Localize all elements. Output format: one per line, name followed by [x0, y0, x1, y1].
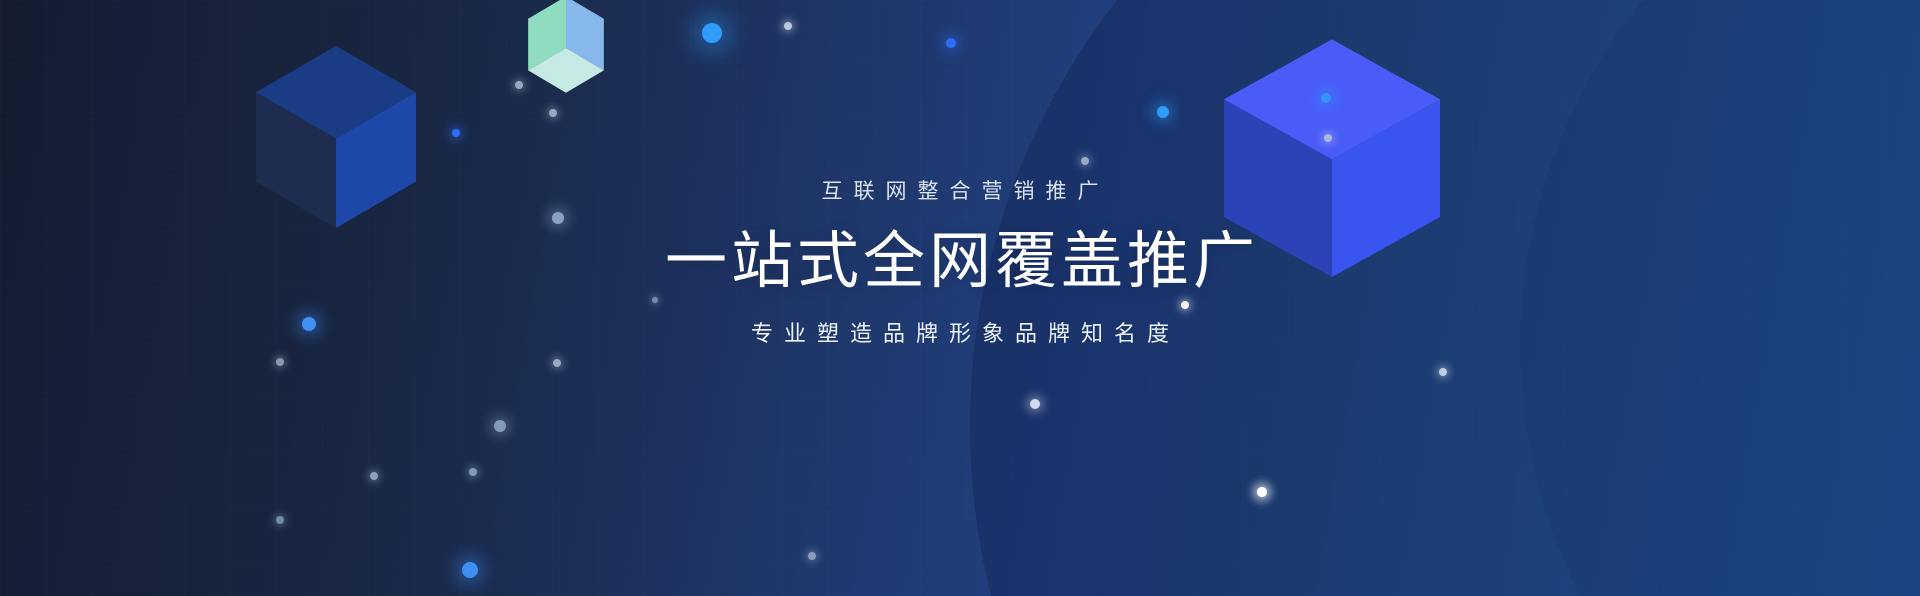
cube-teal-icon	[523, 0, 609, 98]
promo-banner: 互联网整合营销推广 一站式全网覆盖推广 专业塑造品牌形象品牌知名度	[0, 0, 1920, 596]
banner-copy: 互联网整合营销推广 一站式全网覆盖推广 专业塑造品牌形象品牌知名度	[0, 176, 1920, 350]
banner-subline: 专业塑造品牌形象品牌知名度	[0, 317, 1920, 350]
banner-headline: 一站式全网覆盖推广	[0, 224, 1920, 300]
banner-kicker: 互联网整合营销推广	[0, 176, 1920, 208]
